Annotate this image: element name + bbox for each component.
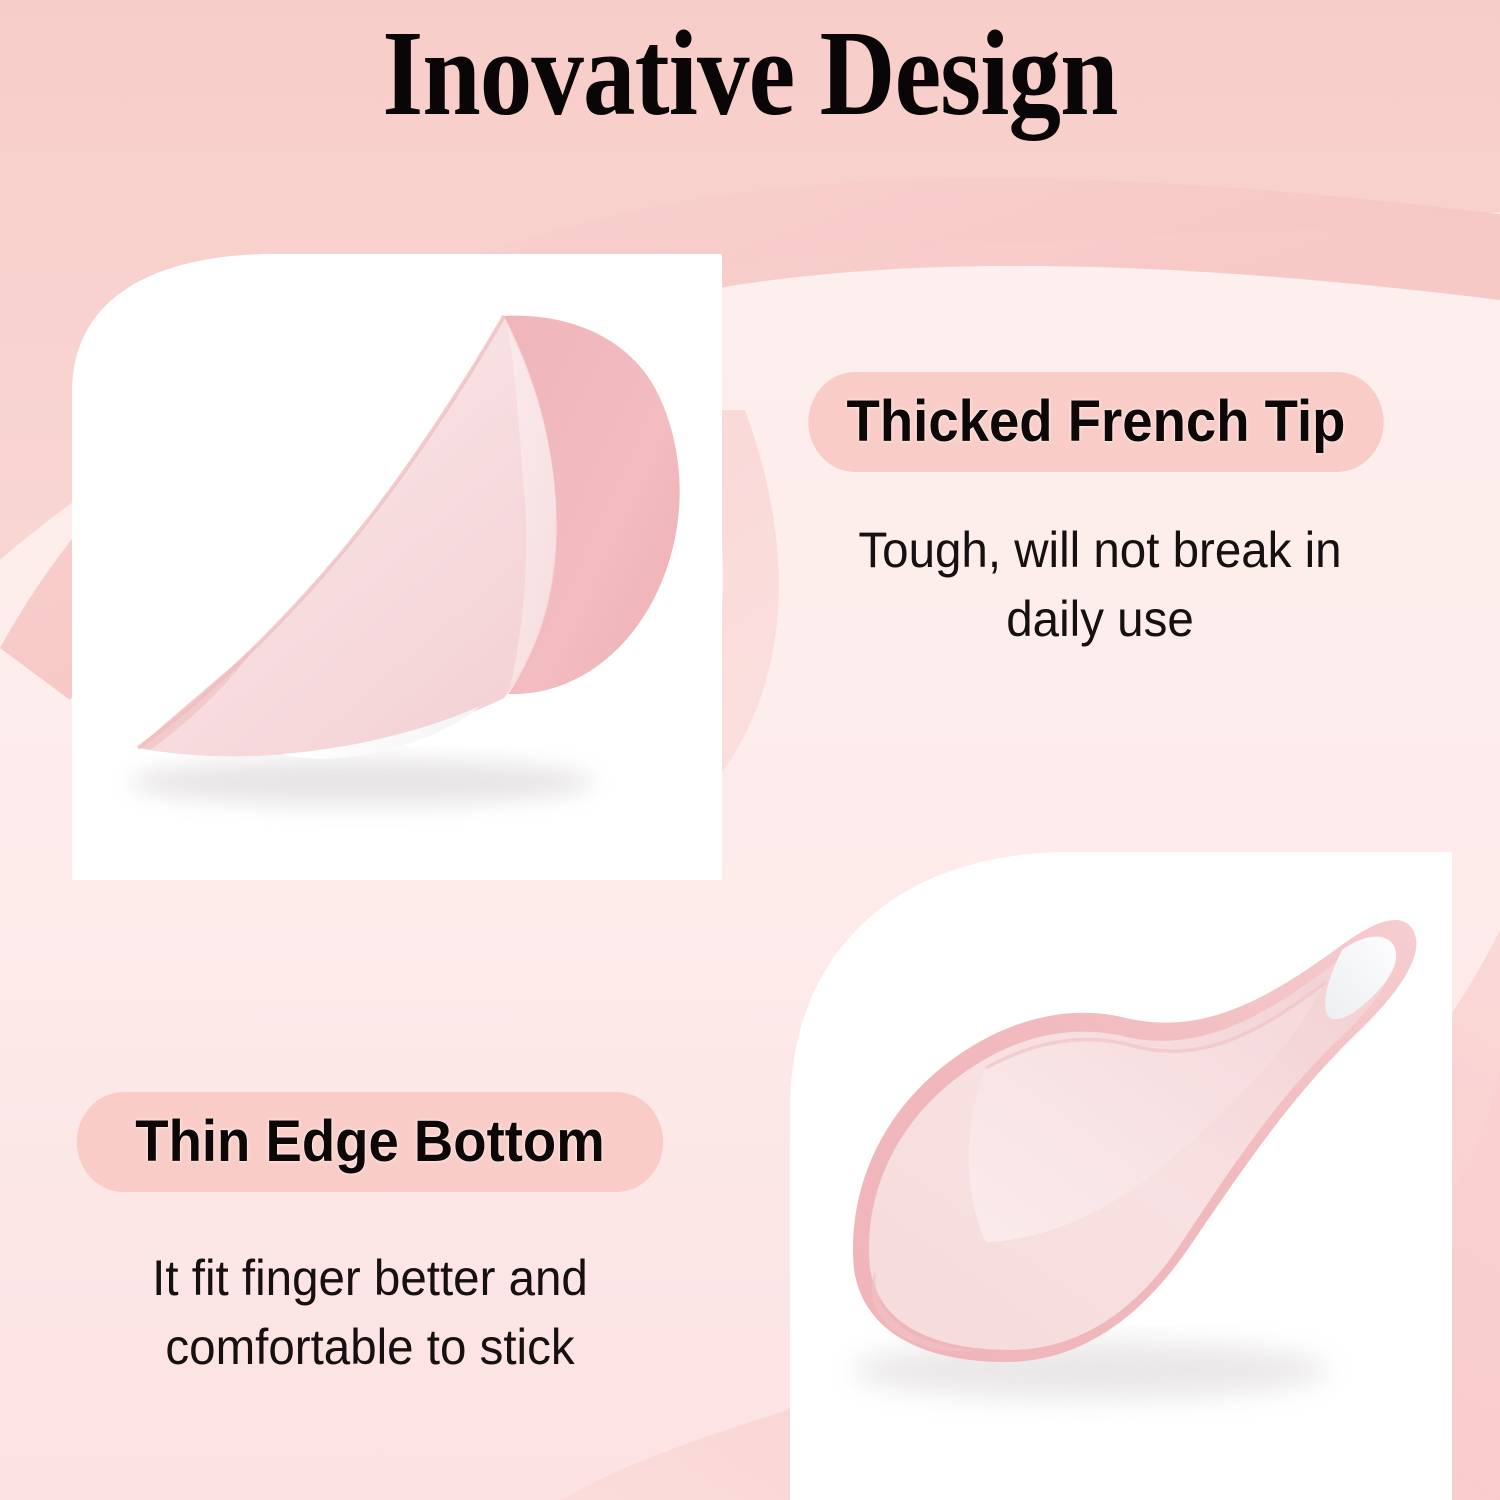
feature-description-thicked-french-tip: Tough, will not break in daily use bbox=[806, 516, 1395, 654]
feature-badge-thicked-french-tip[interactable]: Thicked French Tip bbox=[808, 372, 1383, 472]
page-title: Inovative Design bbox=[105, 12, 1395, 136]
feature-block-thicked-french-tip: Thicked French Tip Tough, will not break… bbox=[790, 372, 1410, 654]
product-infographic: Inovative Design bbox=[0, 0, 1500, 1500]
nail-shadow bbox=[130, 758, 594, 806]
nail-tip-underside-illustration bbox=[790, 850, 1454, 1500]
feature-block-thin-edge-bottom: Thin Edge Bottom It fit finger better an… bbox=[58, 1092, 682, 1382]
product-photo-thicked-french-tip bbox=[72, 254, 724, 880]
feature-badge-thin-edge-bottom[interactable]: Thin Edge Bottom bbox=[77, 1092, 664, 1192]
feature-description-thin-edge-bottom: It fit finger better and comfortable to … bbox=[74, 1244, 667, 1382]
nail-tip-side-illustration bbox=[72, 254, 724, 880]
nail-thin-tip bbox=[1325, 937, 1396, 1020]
product-photo-thin-edge-bottom bbox=[790, 850, 1454, 1500]
nail-body bbox=[138, 316, 557, 756]
